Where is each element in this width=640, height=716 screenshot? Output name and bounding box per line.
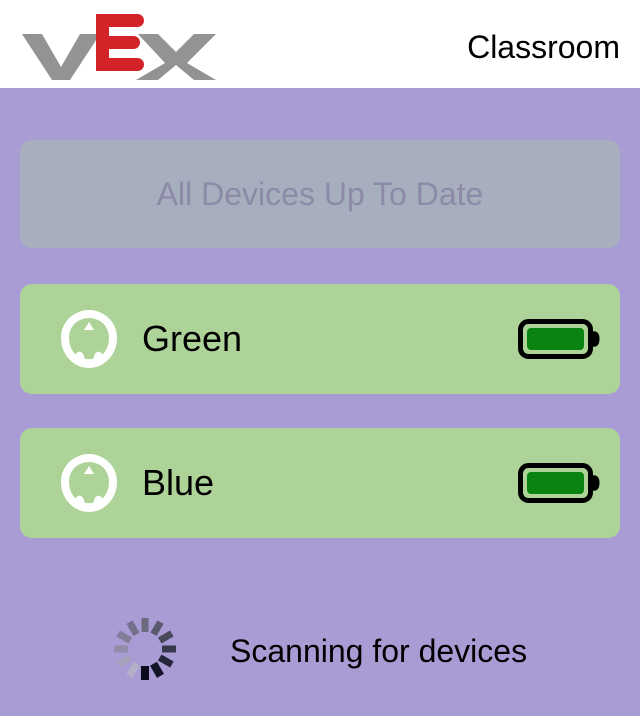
vex-brain-icon [58,308,120,370]
vex-logo [20,8,220,80]
vex-classroom-app: Classroom All Devices Up To Date Green [0,0,640,716]
device-row[interactable]: Blue [20,428,620,538]
scanning-status: Scanning for devices [0,596,640,706]
device-name-label: Blue [142,463,214,503]
battery-full-icon [518,319,600,359]
loading-spinner-icon [110,614,180,684]
update-status-banner: All Devices Up To Date [20,140,620,248]
update-status-label: All Devices Up To Date [157,176,484,212]
device-name-label: Green [142,319,242,359]
app-header: Classroom [0,0,640,88]
page-title: Classroom [467,30,620,64]
main-content: All Devices Up To Date Green [0,88,640,716]
device-row[interactable]: Green [20,284,620,394]
battery-full-icon [518,463,600,503]
scanning-label: Scanning for devices [230,633,527,669]
vex-brain-icon [58,452,120,514]
